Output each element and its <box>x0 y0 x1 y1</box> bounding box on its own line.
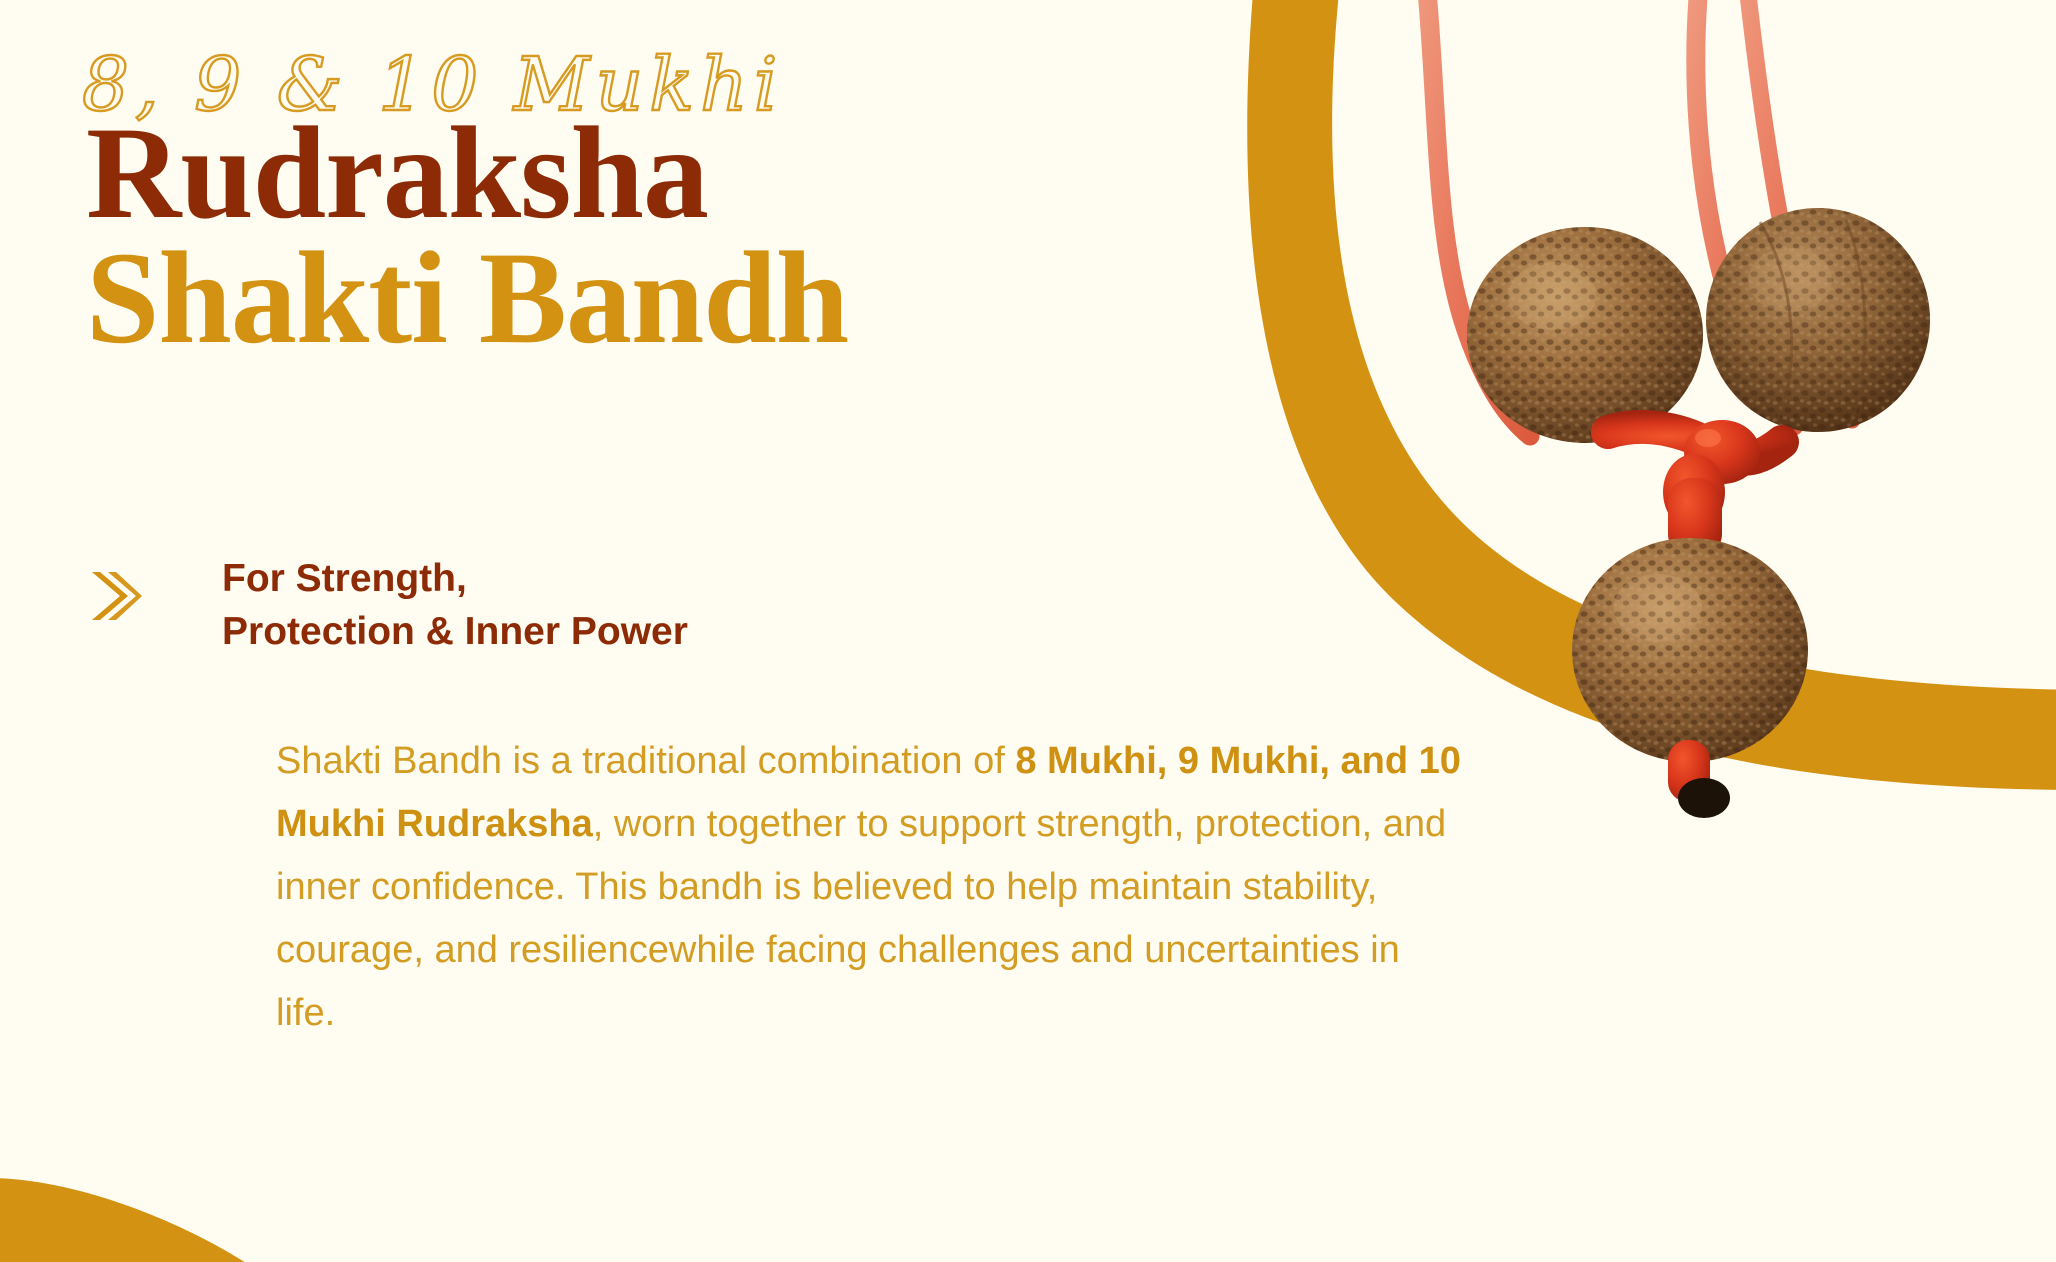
bead-lower <box>1572 538 1808 762</box>
center-knot <box>1608 420 1782 558</box>
rudraksha-product-image <box>1290 0 2056 740</box>
text-content-column: 8, 9 & 10 Mukhi Rudraksha Shakti Bandh F… <box>86 0 1336 1262</box>
script-eyebrow: 8, 9 & 10 Mukhi <box>74 24 974 144</box>
bead-upper-right <box>1706 208 1930 432</box>
page-title: Rudraksha Shakti Bandh <box>86 108 848 366</box>
subtitle-text: For Strength, Protection & Inner Power <box>222 552 688 658</box>
body-segment-0: Shakti Bandh is a traditional combinatio… <box>276 740 1015 782</box>
script-eyebrow-text: 8, 9 & 10 Mukhi <box>82 42 783 128</box>
subtitle-line-1: For Strength, <box>222 552 688 605</box>
subtitle-line-2: Protection & Inner Power <box>222 605 688 658</box>
body-paragraph: Shakti Bandh is a traditional combinatio… <box>276 730 1466 1045</box>
subtitle-row: For Strength, Protection & Inner Power <box>86 552 688 658</box>
title-line-shakti-bandh: Shakti Bandh <box>86 231 848 366</box>
poster-canvas: 8, 9 & 10 Mukhi Rudraksha Shakti Bandh F… <box>0 0 2056 1262</box>
bead-upper-left <box>1467 227 1703 443</box>
double-chevron-right-icon <box>86 566 142 626</box>
